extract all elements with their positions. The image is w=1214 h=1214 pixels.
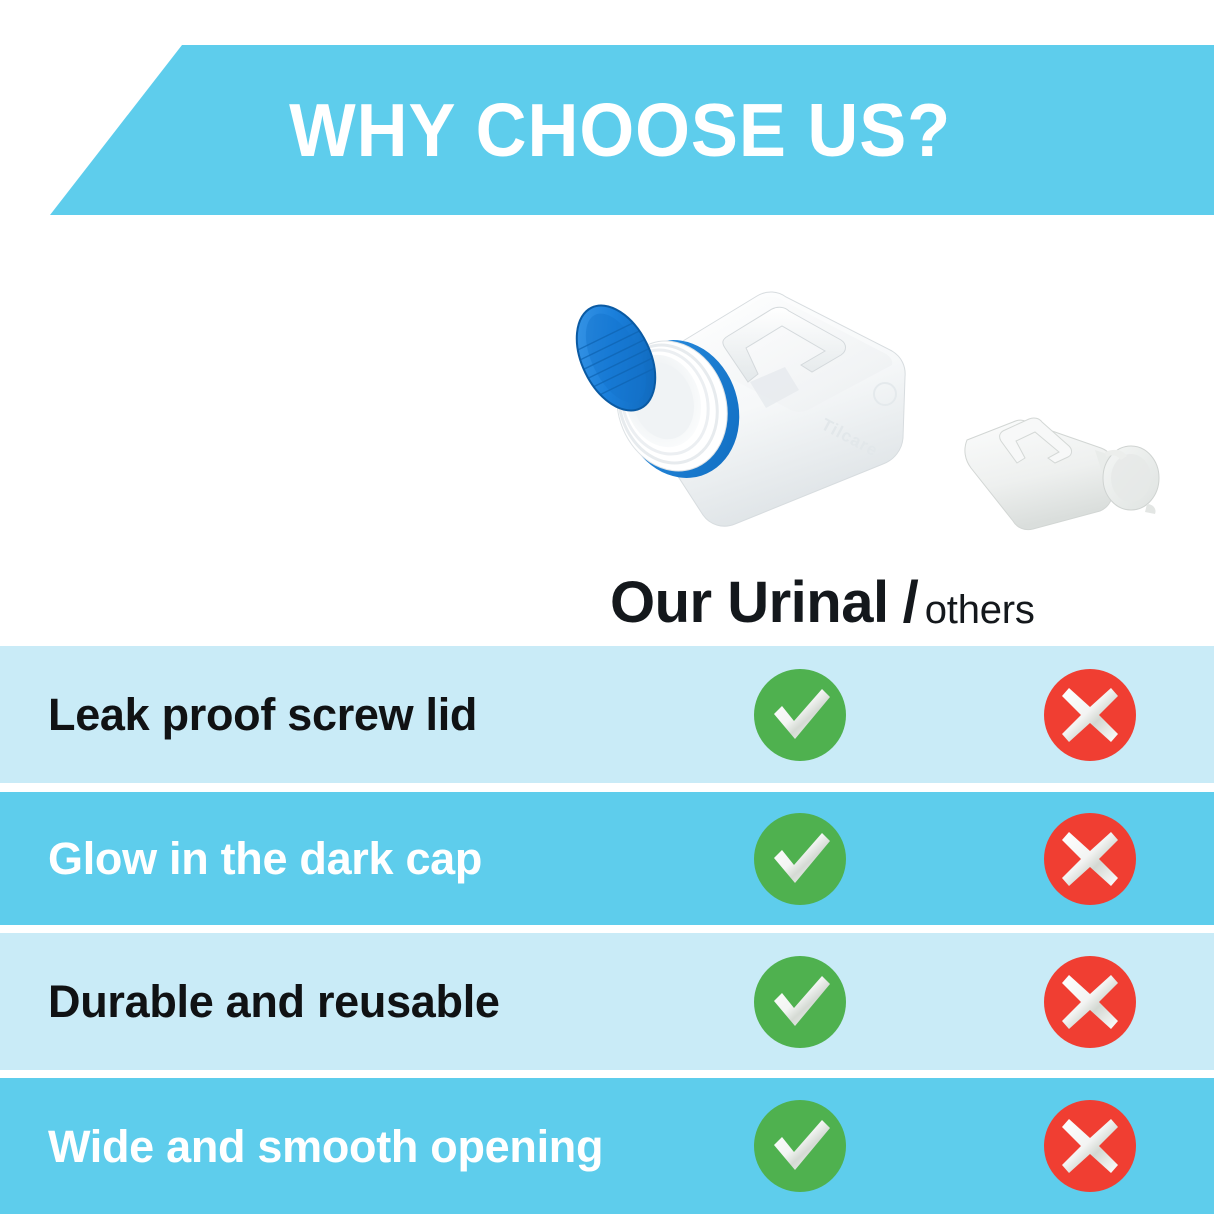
page-title: WHY CHOOSE US? — [36, 45, 1177, 215]
table-row: Leak proof screw lid — [0, 646, 1214, 783]
table-row: Wide and smooth opening — [0, 1078, 1214, 1214]
table-row: Glow in the dark cap — [0, 792, 1214, 925]
check-circle-icon — [754, 669, 846, 761]
cross-circle-icon — [1044, 669, 1136, 761]
competitor-urinal-image — [955, 408, 1170, 538]
feature-label: Leak proof screw lid — [48, 692, 477, 737]
cross-circle-icon — [1044, 813, 1136, 905]
feature-label: Durable and reusable — [48, 979, 500, 1024]
label-separator: / — [889, 574, 925, 632]
check-circle-icon — [754, 1100, 846, 1192]
cross-circle-icon — [1044, 1100, 1136, 1192]
feature-label: Glow in the dark cap — [48, 836, 482, 881]
our-column-label: Our Urinal — [610, 574, 889, 632]
check-circle-icon — [754, 956, 846, 1048]
check-circle-icon — [754, 813, 846, 905]
comparison-column-labels: Our Urinal / others — [610, 562, 1214, 632]
feature-label: Wide and smooth opening — [48, 1124, 603, 1169]
table-row: Durable and reusable — [0, 933, 1214, 1070]
our-urinal-image: Tilcare — [520, 278, 920, 548]
others-column-label: others — [925, 590, 1035, 632]
cross-circle-icon — [1044, 956, 1136, 1048]
